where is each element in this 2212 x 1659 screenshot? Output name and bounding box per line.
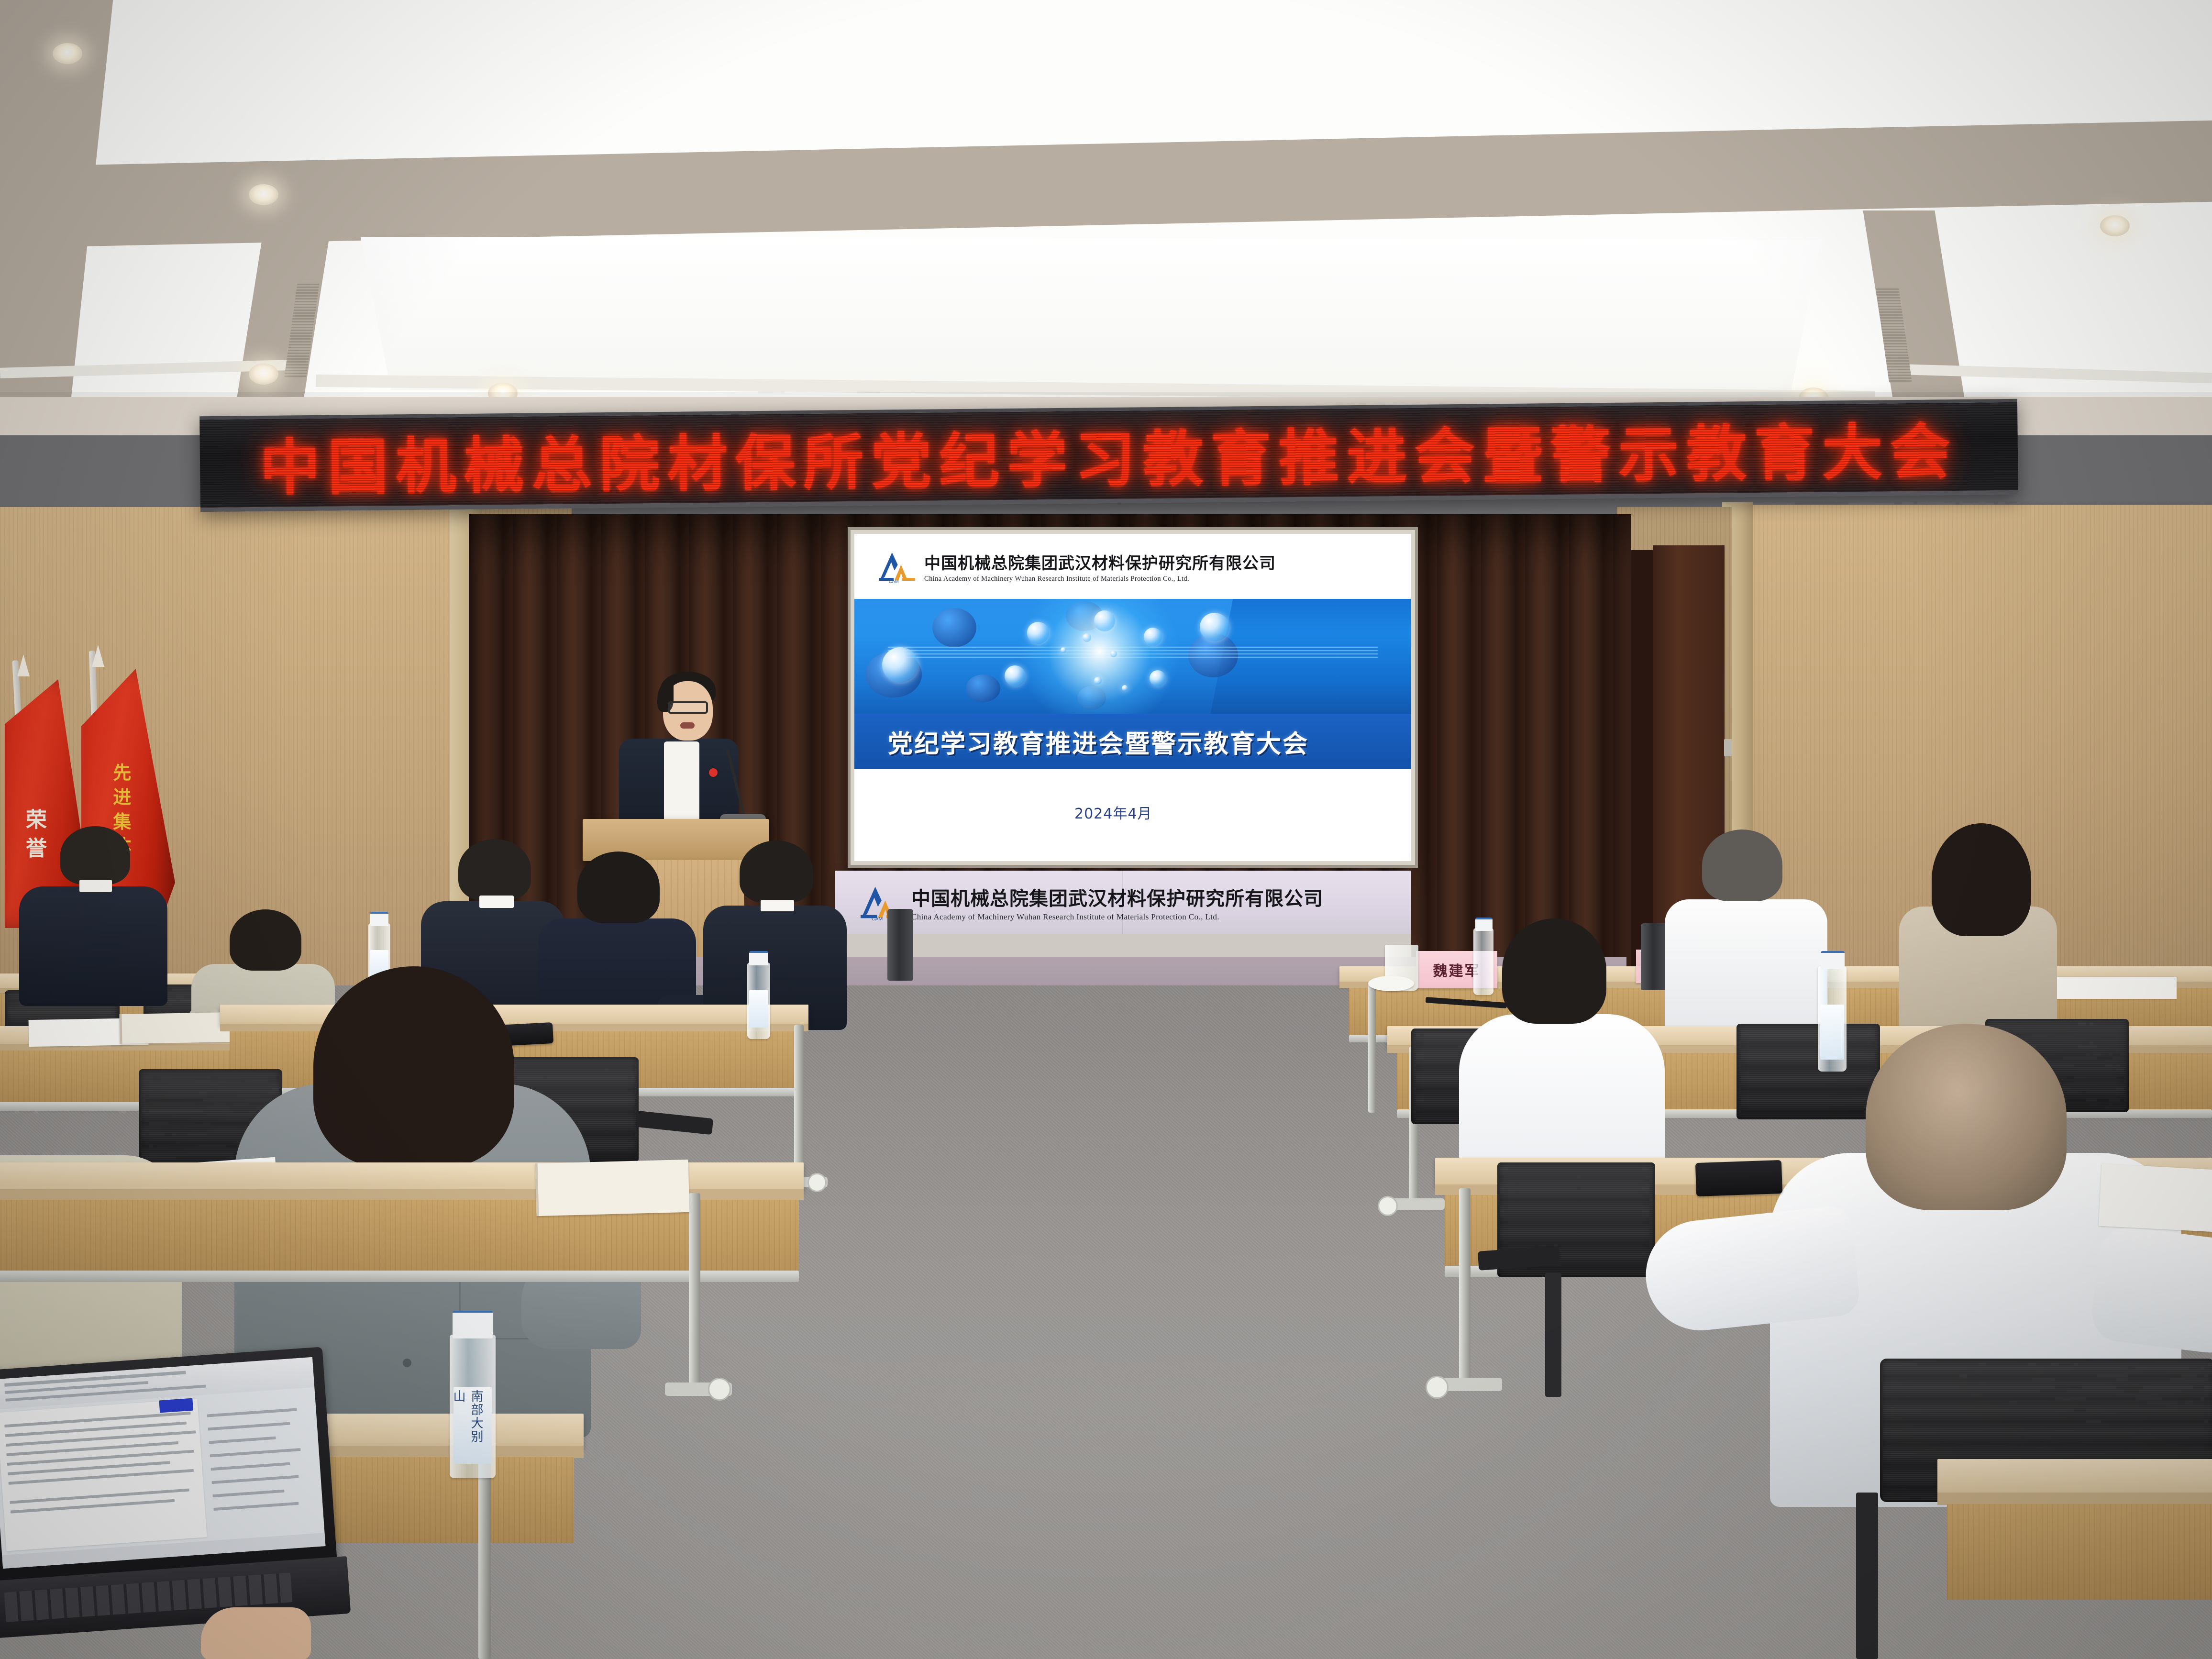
attendee-hair [60,826,130,885]
svg-text:CAM: CAM [889,578,899,584]
table-caster [807,1173,827,1192]
chair[interactable] [1736,1024,1880,1119]
laptop[interactable] [0,1347,337,1585]
hand [201,1607,311,1659]
saucer [1368,976,1414,991]
notebook [119,1012,234,1044]
led-banner: 中国机械总院材保所党纪学习教育推进会暨警示教育大会 [199,399,2018,512]
attendee-hair [458,839,531,900]
notebook [535,1160,690,1216]
downlight [249,364,278,385]
attendee-hair [740,841,813,903]
slide-title: 党纪学习教育推进会暨警示教育大会 [854,724,1309,760]
attendee-hair [577,852,660,923]
downlight [2100,215,2130,236]
laptop-highlight [159,1398,193,1413]
slide-header: CAM 中国机械总院集团武汉材料保护研究所有限公司 China Academy … [854,534,1411,599]
attendee-hair [1502,918,1606,1024]
projection-slide: CAM 中国机械总院集团武汉材料保护研究所有限公司 China Academy … [854,534,1411,861]
downlight [53,43,82,64]
cam-logo-icon: CAM [876,549,918,584]
attendee-torso [19,886,167,1006]
paper-sheet [2057,977,2177,999]
water-bottle-brand: 南部大别山 [457,1390,485,1447]
table-caster [1378,1196,1398,1216]
slide-hero-graphic [854,599,1411,714]
ceiling [0,0,2212,421]
speaker-lapel-pin [709,768,718,777]
slide-header-en: China Academy of Machinery Wuhan Researc… [924,575,1276,583]
attendee-torso [1665,899,1827,1043]
downlight [249,184,278,205]
slide-date: 2024年4月 [1074,802,1152,823]
attendee-hair [1702,829,1782,901]
speaker-eyeglasses [668,701,708,714]
table-caster [1426,1376,1449,1399]
smartphone[interactable] [1695,1160,1782,1196]
door-hinge [1724,739,1732,756]
flag-text: 荣 誉 [23,808,44,858]
thermos-flask[interactable] [887,909,913,981]
led-banner-text: 中国机械总院材保所党纪学习教育推进会暨警示教育大会 [199,403,2018,507]
wall-sign-cn: 中国机械总院集团武汉材料保护研究所有限公司 [911,883,1323,911]
thermos-flask[interactable] [1641,923,1668,990]
wall-sign-board: CAM 中国机械总院集团武汉材料保护研究所有限公司 China Academy … [835,871,1411,934]
attendee-hair [1866,1024,2067,1210]
slide-title-band: 党纪学习教育推进会暨警示教育大会 [854,714,1411,769]
slide-header-cn: 中国机械总院集团武汉材料保护研究所有限公司 [924,550,1276,574]
wall-sign-en: China Academy of Machinery Wuhan Researc… [911,912,1323,922]
attendee-hair [1932,823,2031,936]
water-bottle[interactable] [1473,928,1493,995]
conference-hall-photo: 中国机械总院材保所党纪学习教育推进会暨警示教育大会 CAM 中国 [0,0,2212,1659]
attendee-hair [230,909,301,971]
water-bottle[interactable] [747,962,770,1039]
projection-screen-frame: CAM 中国机械总院集团武汉材料保护研究所有限公司 China Academy … [851,530,1415,865]
svg-text:CAM: CAM [872,917,883,921]
water-bottle[interactable] [1818,966,1847,1072]
table-caster [708,1378,731,1401]
paper-sheet [2099,1164,2212,1233]
attendee-hair [313,966,514,1167]
laptop-screen [0,1357,326,1569]
